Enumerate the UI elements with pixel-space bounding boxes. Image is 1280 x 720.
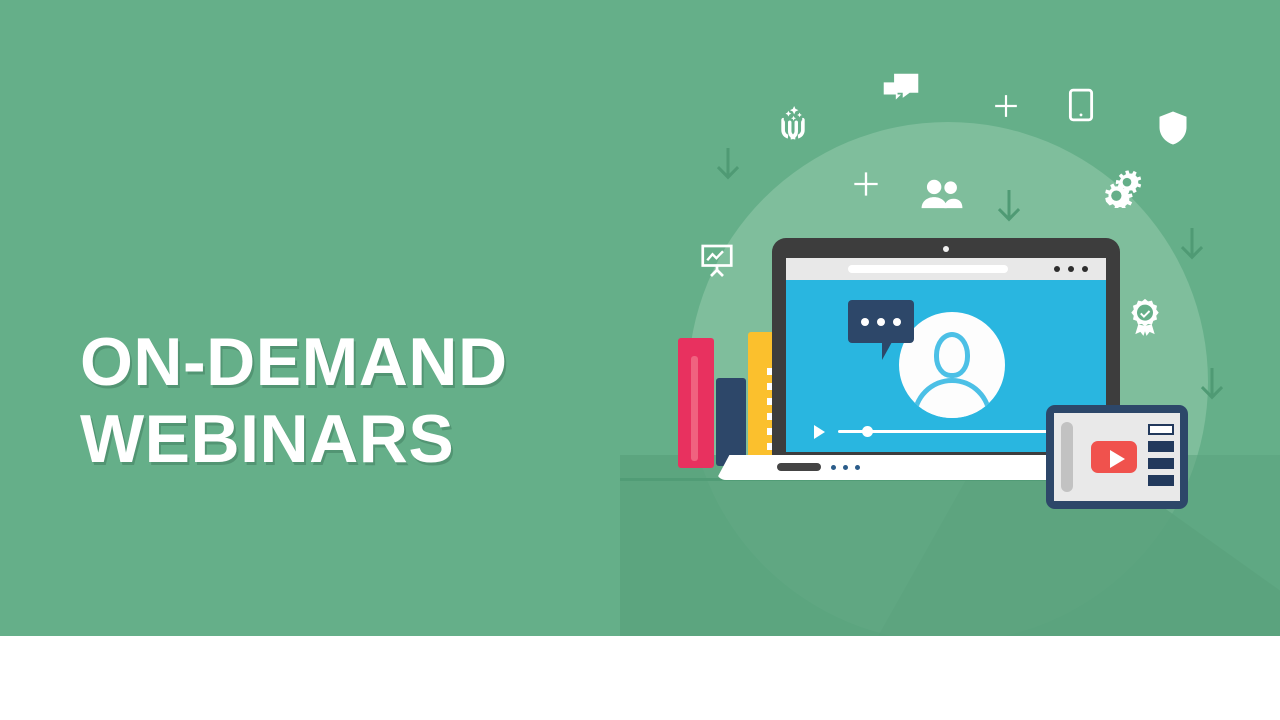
hero-panel: ON-DEMAND WEBINARS (0, 0, 1280, 636)
trackpad-bar (777, 463, 821, 471)
tablet-icon (1068, 88, 1094, 122)
chat-bubble-dot (893, 318, 901, 326)
slide-canvas: ON-DEMAND WEBINARS SurveyCTO (0, 0, 1280, 720)
base-indicator-dot (843, 465, 848, 470)
award-badge-icon (1128, 298, 1162, 338)
base-indicator-dot (855, 465, 860, 470)
chat-bubble-icon (848, 300, 914, 343)
chat-bubble-dot (861, 318, 869, 326)
browser-menu-dot (1068, 266, 1074, 272)
headline-line-1: ON-DEMAND (80, 324, 508, 400)
browser-toolbar (786, 258, 1106, 280)
browser-menu-dot (1082, 266, 1088, 272)
down-arrow-icon (1180, 228, 1204, 269)
page-title: ON-DEMAND WEBINARS (80, 324, 640, 479)
browser-menu-dot (1054, 266, 1060, 272)
chat-bubble-tail (882, 342, 892, 360)
video-playlist-panel (1046, 405, 1188, 509)
play-icon (1110, 450, 1125, 468)
playlist-scrollbar[interactable] (1061, 422, 1073, 492)
down-arrow-icon (716, 148, 740, 189)
play-icon[interactable] (814, 425, 825, 439)
shield-icon (1158, 110, 1188, 146)
plus-icon (852, 170, 880, 198)
base-indicator-dot (831, 465, 836, 470)
video-controls (814, 424, 1084, 436)
footer-bar: SurveyCTO (0, 636, 1280, 720)
book-pink-stripe (691, 356, 698, 461)
avatar-shoulders (912, 378, 992, 418)
people-icon (920, 178, 964, 210)
address-bar[interactable] (848, 265, 1008, 273)
avatar (899, 312, 1005, 418)
gears-icon (1100, 168, 1144, 208)
chat-bubbles-icon (880, 72, 922, 110)
presentation-chart-icon (700, 243, 734, 279)
down-arrow-icon (997, 190, 1021, 231)
avatar-head (934, 332, 970, 378)
progress-knob[interactable] (862, 426, 873, 437)
plus-icon (993, 93, 1019, 119)
down-arrow-icon (1200, 368, 1224, 409)
playlist-item[interactable] (1148, 424, 1174, 435)
playlist-item[interactable] (1148, 458, 1174, 469)
playlist-item[interactable] (1148, 441, 1174, 452)
chat-bubble-dot (877, 318, 885, 326)
hands-sparkle-icon (770, 100, 816, 146)
book-navy (716, 378, 746, 466)
playlist-item[interactable] (1148, 475, 1174, 486)
headline-line-2: WEBINARS (80, 401, 640, 479)
video-playlist-body (1054, 413, 1180, 501)
webcam-dot (943, 246, 949, 252)
